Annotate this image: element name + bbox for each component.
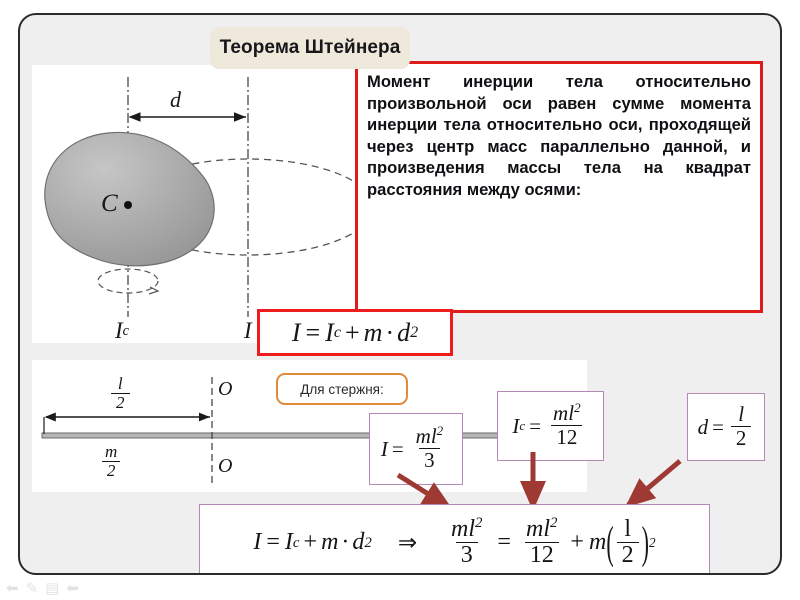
final-term2-fraction: ml2 12	[521, 517, 562, 569]
final-equals-2: =	[497, 529, 511, 556]
rod-d-formula: d = l 2	[698, 404, 755, 450]
forward-arrow-icon[interactable]: ⬅	[66, 579, 79, 597]
rod-I-formula-box: I = ml2 3	[369, 413, 463, 485]
pencil-icon[interactable]: ✎	[26, 579, 39, 597]
final-lhs: I	[253, 529, 261, 556]
rod-Ic-formula: Ic = ml2 12	[512, 403, 588, 449]
rod-Ic-num-m: m	[553, 401, 568, 425]
navigation-ghost-icons: ⬅ ✎ ▤ ⬅	[6, 578, 116, 598]
final-term2-m: m	[526, 516, 543, 542]
final-parenthesized-term: ( l 2 )	[606, 517, 649, 569]
body-diagram-panel	[32, 65, 372, 343]
axis-label-I: I	[244, 318, 252, 344]
final-term1-pow: 2	[475, 515, 482, 531]
rod-half-length-label: l 2	[111, 375, 130, 412]
distance-label-d: d	[170, 87, 181, 113]
final-plus-2: +	[570, 529, 584, 556]
rod-Ic-equals: =	[529, 414, 541, 439]
axis-label-Ic-main: I	[115, 318, 123, 344]
final-paren-close: )	[642, 490, 649, 575]
main-formula-equals: =	[305, 318, 320, 348]
final-term2-den: 12	[525, 542, 559, 569]
rod-d-lhs: d	[698, 415, 709, 440]
final-term1-m: m	[451, 516, 468, 542]
final-term1-fraction: ml2 3	[446, 517, 487, 569]
final-term2-pow: 2	[550, 515, 557, 531]
final-paren-fraction: l 2	[617, 517, 639, 569]
main-formula-dot: ·	[385, 318, 394, 348]
final-paren-den: 2	[617, 542, 639, 569]
page-title: Теорема Штейнера	[220, 37, 401, 59]
rod-I-num-pow: 2	[437, 423, 444, 438]
final-term1-l: l	[468, 516, 475, 542]
final-term1-num: ml2	[446, 517, 487, 542]
rod-half-mass-num: m	[100, 443, 122, 461]
rod-I-formula: I = ml2 3	[381, 426, 451, 472]
document-icon[interactable]: ▤	[45, 579, 59, 597]
rod-d-num: l	[733, 404, 749, 426]
rod-axis-label-bottom: O	[218, 455, 232, 478]
rod-Ic-num: ml2	[548, 403, 586, 425]
rod-case-callout-text: Для стержня:	[300, 382, 383, 397]
rod-d-fraction: l 2	[731, 404, 752, 450]
final-Ic: I	[285, 529, 293, 556]
rod-Ic-num-pow: 2	[574, 400, 581, 415]
back-arrow-icon[interactable]: ⬅	[6, 579, 19, 597]
rod-half-length-num: l	[113, 375, 128, 393]
rod-Ic-lhs: I	[512, 414, 519, 439]
rod-half-mass-label: m 2	[100, 443, 122, 480]
center-of-mass-label-C: C	[101, 190, 118, 218]
rod-d-den: 2	[731, 426, 752, 450]
arrow-d-to-term3	[628, 461, 680, 505]
final-term2-num: ml2	[521, 517, 562, 542]
rod-half-length-den: 2	[111, 393, 130, 412]
final-derivation-box: I = Ic + m · d2 ⇒ ml2 3 = ml2 12 + m ( l	[199, 504, 710, 575]
final-m-1: m	[321, 529, 338, 556]
rod-I-num-m: m	[416, 424, 431, 448]
final-dot: ·	[341, 529, 349, 556]
rod-I-equals: =	[392, 437, 404, 462]
final-term2-l: l	[543, 516, 550, 542]
rod-Ic-formula-box: Ic = ml2 12	[497, 391, 604, 461]
main-formula-m: m	[364, 318, 383, 348]
main-formula-plus: +	[345, 318, 360, 348]
final-implies: ⇒	[398, 530, 417, 556]
main-formula-Ic: I	[325, 318, 334, 348]
main-formula-box: I = Ic + m · d2	[257, 309, 453, 356]
axis-label-Ic: Ic	[115, 318, 129, 344]
rod-I-fraction: ml2 3	[411, 426, 449, 472]
rod-Ic-fraction: ml2 12	[548, 403, 586, 449]
rod-axis-label-top: O	[218, 378, 232, 401]
rod-Ic-den: 12	[551, 425, 582, 449]
main-formula-lhs: I	[292, 318, 301, 348]
final-plus-1: +	[304, 529, 318, 556]
rod-I-num: ml2	[411, 426, 449, 448]
main-formula-d: d	[397, 318, 410, 348]
final-paren-open: (	[606, 490, 613, 575]
final-term1-den: 3	[456, 542, 478, 569]
description-text: Момент инерции тела относительно произво…	[367, 71, 751, 200]
rod-case-callout: Для стержня:	[276, 373, 408, 405]
rod-d-formula-box: d = l 2	[687, 393, 765, 461]
description-box: Момент инерции тела относительно произво…	[355, 61, 763, 313]
slide-frame: d C Ic I Момент инерции тела относительн…	[18, 13, 782, 575]
final-paren-num: l	[619, 517, 636, 542]
rod-I-den: 3	[419, 448, 440, 472]
final-m-2: m	[589, 529, 606, 556]
final-derivation-formula: I = Ic + m · d2 ⇒ ml2 3 = ml2 12 + m ( l	[253, 517, 655, 569]
final-d: d	[352, 529, 364, 556]
final-equals-1: =	[266, 529, 280, 556]
rod-I-lhs: I	[381, 437, 388, 462]
rod-half-mass-den: 2	[102, 461, 121, 480]
slide-title-box: Теорема Штейнера	[210, 27, 410, 69]
rod-d-equals: =	[712, 415, 724, 440]
main-formula: I = Ic + m · d2	[292, 318, 418, 348]
